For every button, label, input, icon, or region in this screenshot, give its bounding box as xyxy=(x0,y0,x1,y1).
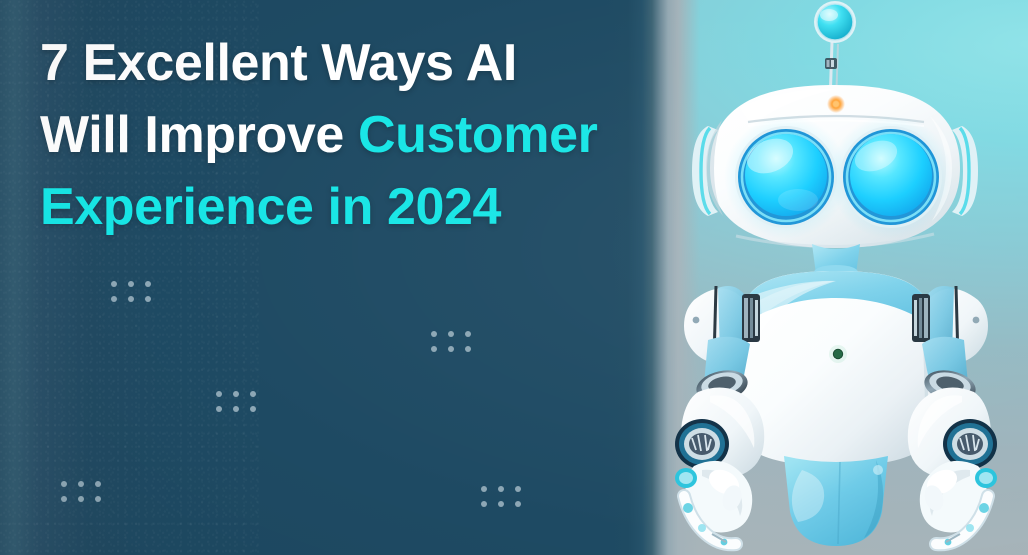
torso xyxy=(736,271,936,466)
pelvis xyxy=(784,456,888,546)
headline-line-2-accent: Customer xyxy=(358,106,598,164)
dot-cluster-5 xyxy=(481,486,521,507)
antenna-ball xyxy=(814,1,856,43)
dot-cluster-1 xyxy=(111,281,151,302)
dot-cluster-4 xyxy=(61,481,101,502)
left-hand xyxy=(675,461,752,546)
hero-banner: 7 Excellent Ways AI Will Improve Custome… xyxy=(0,0,1028,555)
robot-illustration xyxy=(640,0,1028,555)
headline-line-2: Will Improve Customer xyxy=(40,99,640,171)
dot-cluster-2 xyxy=(431,331,471,352)
dot-cluster-3 xyxy=(216,391,256,412)
right-hand xyxy=(920,461,997,546)
right-eye xyxy=(829,115,953,239)
banner-headline: 7 Excellent Ways AI Will Improve Custome… xyxy=(40,27,640,243)
headline-line-1: 7 Excellent Ways AI xyxy=(40,27,640,99)
headline-line-3: Experience in 2024 xyxy=(40,171,640,243)
headline-line-2-white: Will Improve xyxy=(40,106,358,164)
